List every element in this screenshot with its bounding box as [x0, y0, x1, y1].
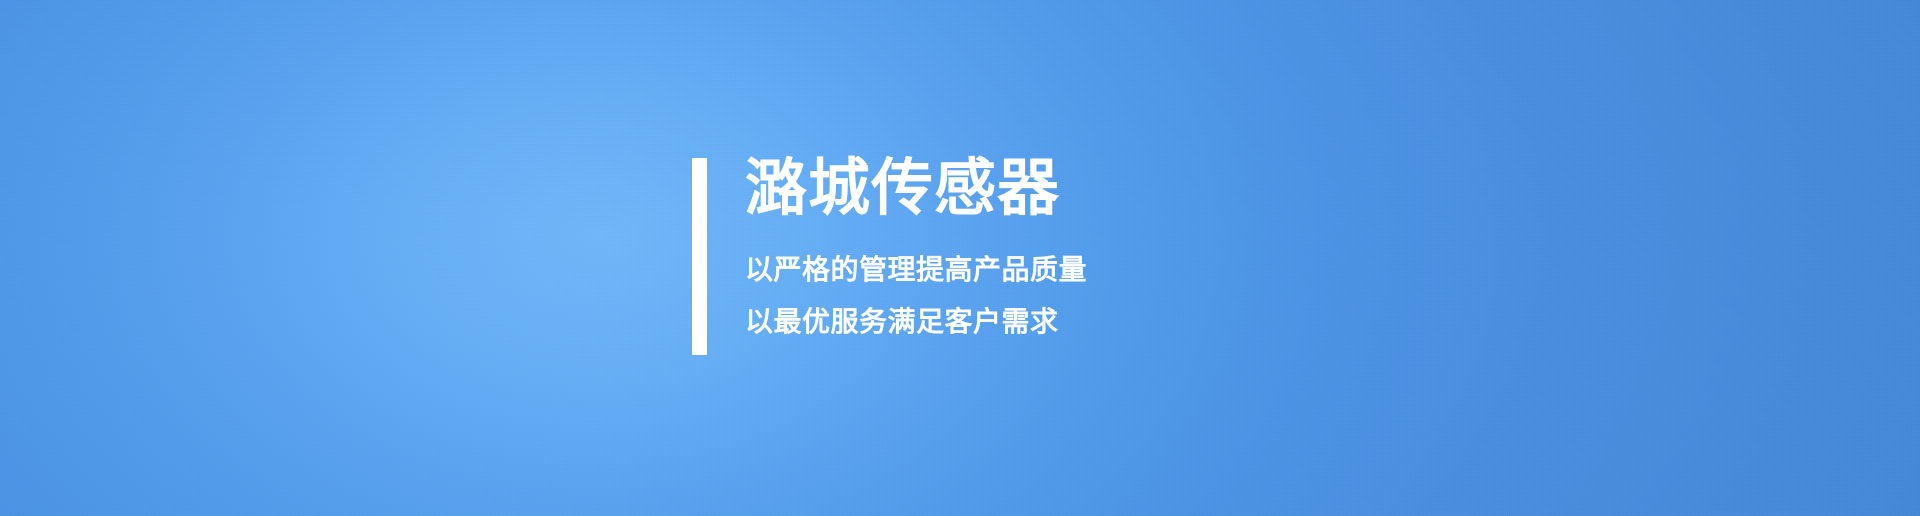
banner-tagline-2: 以最优服务满足客户需求 [745, 308, 1087, 336]
accent-bar [692, 158, 707, 355]
banner-content: 潞城传感器 以严格的管理提高产品质量 以最优服务满足客户需求 [692, 158, 1087, 355]
hero-banner: 潞城传感器 以严格的管理提高产品质量 以最优服务满足客户需求 [0, 0, 1920, 516]
banner-headline: 潞城传感器 [745, 158, 1087, 220]
banner-tagline-1: 以严格的管理提高产品质量 [745, 256, 1087, 284]
banner-text-column: 潞城传感器 以严格的管理提高产品质量 以最优服务满足客户需求 [745, 158, 1087, 355]
